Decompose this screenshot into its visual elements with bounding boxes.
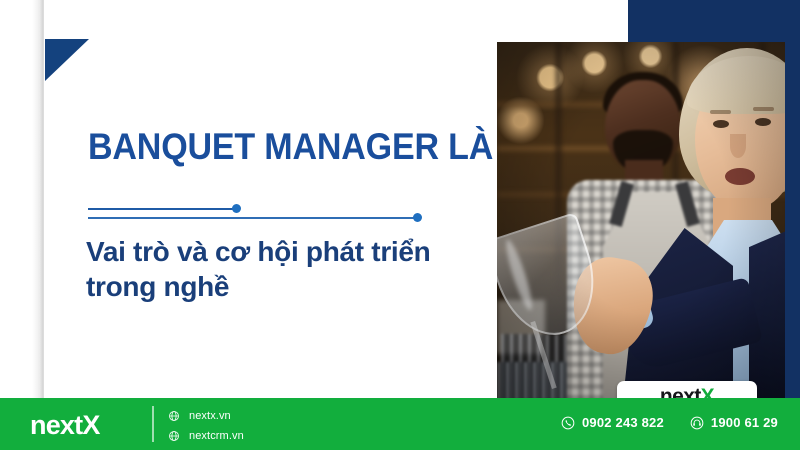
- globe-icon: [168, 430, 180, 442]
- hero-photo: [497, 42, 792, 398]
- page-title: BANQUET MANAGER LÀ GÌ?: [88, 126, 456, 168]
- footer-phone-number: 1900 61 29: [711, 415, 778, 430]
- headset-icon: [690, 416, 704, 430]
- footer-link-nextcrm[interactable]: nextcrm.vn: [168, 427, 244, 444]
- footer-website-links: nextx.vn nextcrm.vn: [168, 407, 244, 447]
- footer-link-label: nextcrm.vn: [189, 430, 244, 442]
- photo-right-navy-edge: [785, 42, 800, 398]
- footer-phone-hotline[interactable]: 1900 61 29: [690, 415, 778, 430]
- navy-corner-block: [628, 0, 800, 43]
- promotional-banner: BANQUET MANAGER LÀ GÌ? Vai trò và cơ hội…: [0, 0, 800, 450]
- page-subtitle: Vai trò và cơ hội phát triển trong nghề: [86, 234, 466, 304]
- divider-line-short: [88, 208, 236, 210]
- phone-icon: [561, 416, 575, 430]
- footer-phone-primary[interactable]: 0902 243 822: [561, 415, 664, 430]
- footer-vertical-divider: [152, 406, 154, 442]
- footer-link-label: nextx.vn: [189, 410, 231, 422]
- divider-dot-long: [413, 213, 422, 222]
- divider-dot-short: [232, 204, 241, 213]
- divider-line-long: [88, 217, 417, 219]
- globe-icon: [168, 410, 180, 422]
- navy-triangle-decoration: [45, 39, 89, 81]
- footer-bar: nextX nextx.vn: [0, 398, 800, 450]
- footer-link-nextx[interactable]: nextx.vn: [168, 407, 244, 424]
- footer-logo: nextX: [30, 410, 100, 441]
- footer-phone-number: 0902 243 822: [582, 415, 664, 430]
- photo-vignette: [497, 42, 792, 398]
- footer-phone-numbers: 0902 243 822 1900 61 29: [535, 415, 778, 430]
- divider-decoration: [88, 204, 448, 226]
